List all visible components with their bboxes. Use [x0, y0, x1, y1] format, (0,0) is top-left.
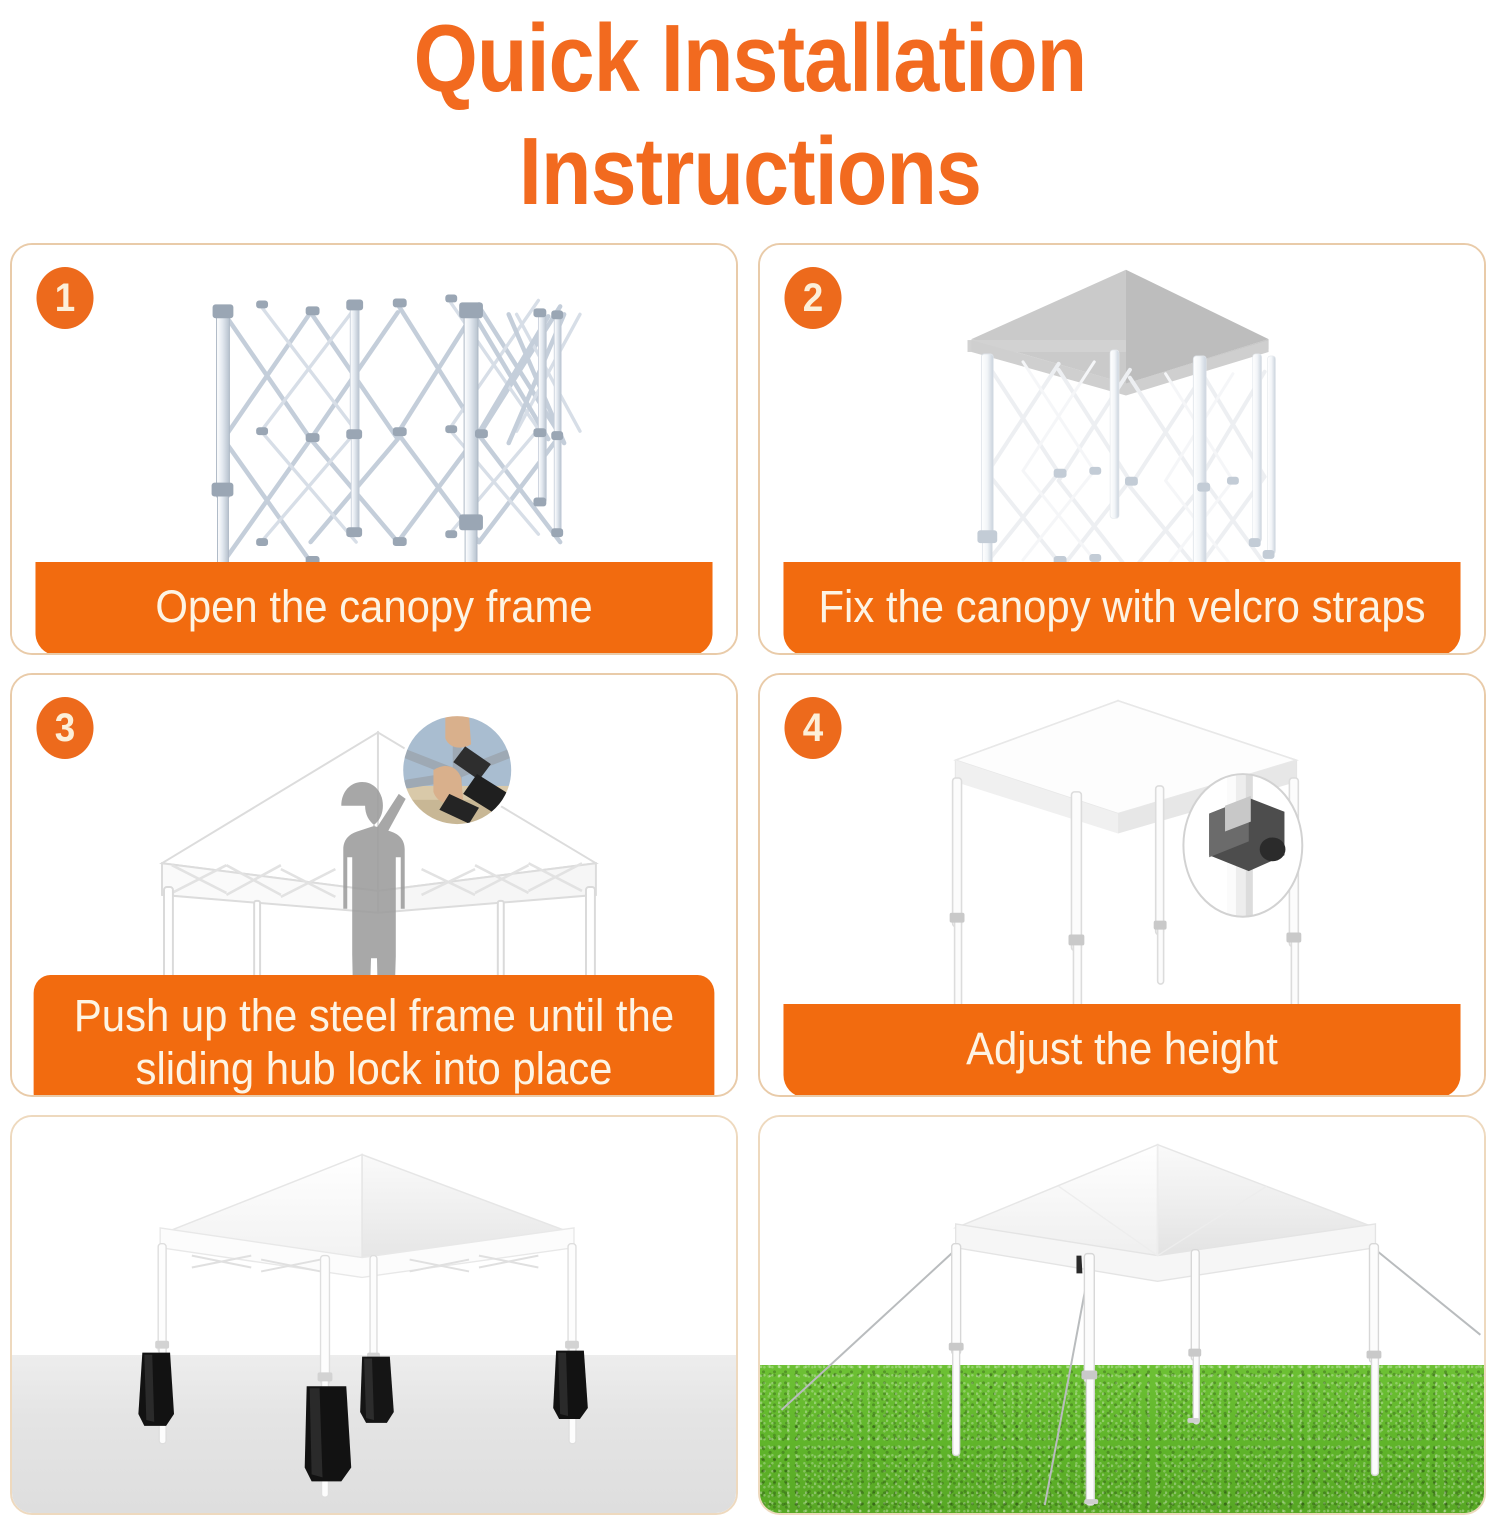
hub-photo-inset: [402, 707, 513, 825]
weight-bag: [360, 1357, 394, 1423]
step-card-2: 2 Fix the canopy with velcro straps: [758, 243, 1486, 655]
caption-line: sliding hub lock into place: [43, 1042, 705, 1095]
page-title-line-1: Quick Installation: [105, 2, 1395, 115]
weight-bag: [138, 1353, 174, 1426]
step-number-badge: 4: [784, 697, 841, 759]
canopy-on-grass-photo: [760, 1117, 1484, 1513]
step-card-4: 4 Adjust the height: [758, 673, 1486, 1097]
page-title: Quick Installation Instructions: [105, 2, 1395, 229]
caption-line: Push up the steel frame until the: [43, 989, 705, 1042]
step-3-caption: Push up the steel frame until the slidin…: [34, 975, 715, 1097]
caption-line: Adjust the height: [797, 1022, 1448, 1075]
step-1-caption: Open the canopy frame: [35, 562, 712, 655]
photo-card-weight-bags: [10, 1115, 738, 1515]
leg-clip-inset: [1183, 774, 1302, 917]
weight-bag: [553, 1351, 588, 1419]
steps-grid: 1 Open the canopy frame: [10, 243, 1490, 1515]
page-title-line-2: Instructions: [105, 115, 1395, 228]
caption-line: Open the canopy frame: [49, 580, 700, 633]
photo-card-grass: [758, 1115, 1486, 1515]
caption-line: Fix the canopy with velcro straps: [797, 580, 1448, 633]
step-number-badge: 3: [36, 697, 93, 759]
step-2-caption: Fix the canopy with velcro straps: [783, 562, 1460, 655]
step-number-badge: 2: [784, 267, 841, 329]
step-card-1: 1 Open the canopy frame: [10, 243, 738, 655]
instruction-sheet: Quick Installation Instructions: [0, 0, 1500, 1500]
step-4-caption: Adjust the height: [783, 1004, 1460, 1097]
step-number-badge: 1: [36, 267, 93, 329]
step-card-3: 3 Push up the steel frame until the slid…: [10, 673, 738, 1097]
canopy-weight-bags-photo: [12, 1117, 736, 1513]
weight-bag: [305, 1386, 352, 1481]
